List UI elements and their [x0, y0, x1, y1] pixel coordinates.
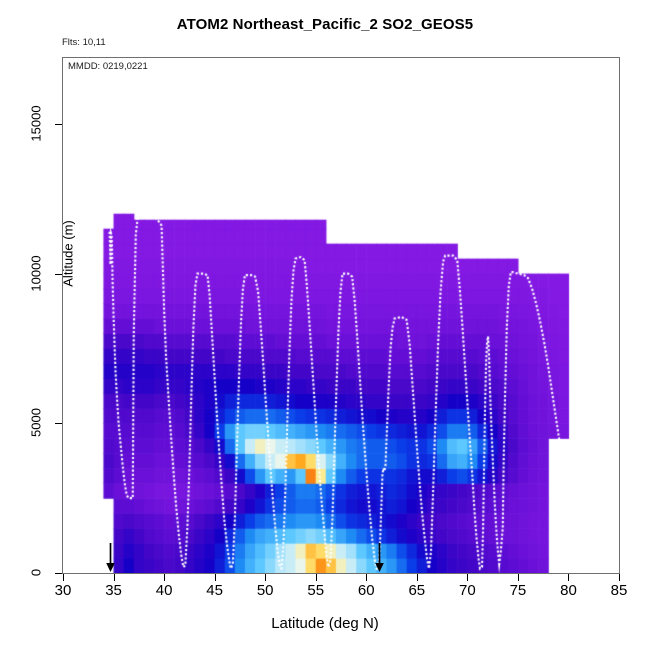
x-tick-label: 65 [397, 582, 437, 599]
x-tick-mark [215, 574, 216, 581]
page-title: ATOM2 Northeast_Pacific_2 SO2_GEOS5 [0, 16, 650, 33]
y-tick-label: 15000 [29, 93, 44, 153]
x-tick-label: 45 [195, 582, 235, 599]
x-tick-label: 75 [498, 582, 538, 599]
x-tick-mark [619, 574, 620, 581]
y-tick-mark [55, 124, 62, 125]
x-tick-label: 40 [144, 582, 184, 599]
flight-start-marker [104, 543, 117, 573]
x-tick-mark [114, 574, 115, 581]
y-tick-label: 5000 [29, 393, 44, 453]
x-tick-mark [265, 574, 266, 581]
x-tick-mark [568, 574, 569, 581]
x-tick-label: 50 [245, 582, 285, 599]
y-tick-mark [55, 573, 62, 574]
x-tick-label: 85 [599, 582, 639, 599]
chart-page: ATOM2 Northeast_Pacific_2 SO2_GEOS5 Flts… [0, 0, 650, 650]
flights-annotation: Flts: 10,11 [62, 37, 106, 48]
x-tick-mark [63, 574, 64, 581]
y-axis-title: Altitude (m) [61, 184, 76, 324]
x-tick-label: 55 [296, 582, 336, 599]
plot-area: MMDD: 0219,0221 [62, 57, 620, 574]
y-tick-label: 0 [29, 543, 44, 603]
x-tick-label: 30 [43, 582, 83, 599]
x-axis-title: Latitude (deg N) [0, 615, 650, 632]
x-tick-mark [417, 574, 418, 581]
y-tick-mark [55, 423, 62, 424]
flight-mid-marker [373, 543, 386, 573]
y-tick-label: 10000 [29, 243, 44, 303]
x-tick-mark [366, 574, 367, 581]
x-tick-mark [316, 574, 317, 581]
x-tick-label: 35 [94, 582, 134, 599]
x-tick-mark [164, 574, 165, 581]
x-tick-label: 70 [447, 582, 487, 599]
x-tick-label: 60 [346, 582, 386, 599]
x-tick-label: 80 [548, 582, 588, 599]
heatmap-canvas [63, 58, 619, 573]
mmdd-annotation: MMDD: 0219,0221 [68, 61, 148, 72]
x-tick-mark [467, 574, 468, 581]
x-tick-mark [518, 574, 519, 581]
